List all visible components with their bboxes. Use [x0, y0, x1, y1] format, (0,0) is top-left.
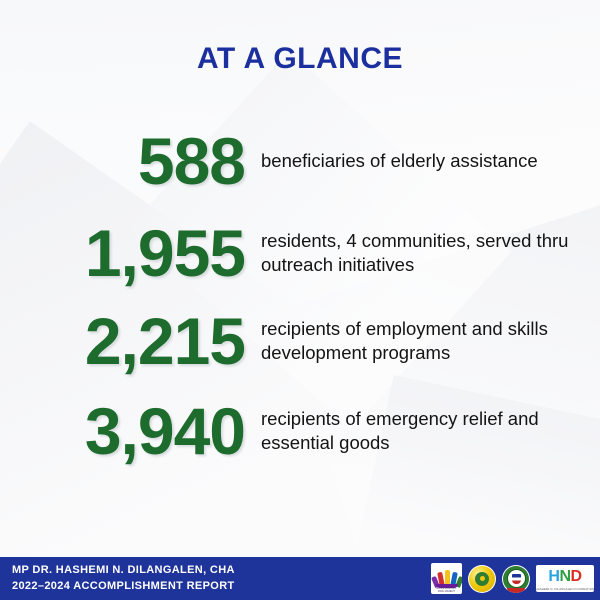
footer-line-2: 2022–2024 ACCOMPLISHMENT REPORT	[12, 579, 235, 595]
stat-number: 2,215	[0, 308, 253, 374]
bangsamoro-government-logo-icon	[468, 565, 496, 593]
government-seal-logo-icon	[502, 565, 530, 593]
crown-icon	[435, 569, 459, 588]
stat-row: 1,955 residents, 4 communities, served t…	[0, 220, 600, 286]
seal-icon	[503, 566, 529, 592]
hnd-letter-n: N	[559, 569, 570, 585]
stat-row: 2,215 recipients of employment and skill…	[0, 308, 600, 374]
stat-description: recipients of employment and skills deve…	[253, 317, 600, 364]
stat-number: 588	[0, 128, 253, 194]
footer-line-1: MP DR. HASHEMI N. DILANGALEN, CHA	[12, 563, 235, 579]
stat-number: 1,955	[0, 220, 253, 286]
stat-number: 3,940	[0, 398, 253, 464]
logo-caption: BANGSAMORO PARLIAMENT	[431, 587, 462, 593]
stat-row: 588 beneficiaries of elderly assistance	[0, 128, 600, 194]
hnd-logo-caption: HASHEMI N. DILANGALEN FOUNDATION	[536, 587, 594, 591]
hnd-lettermark: H N D	[548, 569, 581, 585]
hnd-letter-d: D	[571, 569, 582, 585]
footer-bar: MP DR. HASHEMI N. DILANGALEN, CHA 2022–2…	[0, 557, 600, 600]
hnd-letter-h: H	[548, 569, 559, 585]
stat-description: recipients of emergency relief and essen…	[253, 407, 600, 454]
stats-list: 588 beneficiaries of elderly assistance …	[0, 128, 600, 464]
stat-row: 3,940 recipients of emergency relief and…	[0, 398, 600, 464]
stat-description: residents, 4 communities, served thru ou…	[253, 229, 600, 276]
hnd-logo-icon: H N D HASHEMI N. DILANGALEN FOUNDATION	[536, 565, 594, 592]
page-title: AT A GLANCE	[0, 42, 600, 76]
gold-ring-icon	[469, 566, 495, 592]
infographic-poster: AT A GLANCE 588 beneficiaries of elderly…	[0, 0, 600, 600]
stat-description: beneficiaries of elderly assistance	[253, 149, 600, 173]
footer-credit: MP DR. HASHEMI N. DILANGALEN, CHA 2022–2…	[12, 563, 235, 595]
bangsamoro-parliament-logo-icon: BANGSAMORO PARLIAMENT	[431, 563, 462, 594]
footer-logo-group: BANGSAMORO PARLIAMENT H N D HA	[431, 563, 594, 594]
